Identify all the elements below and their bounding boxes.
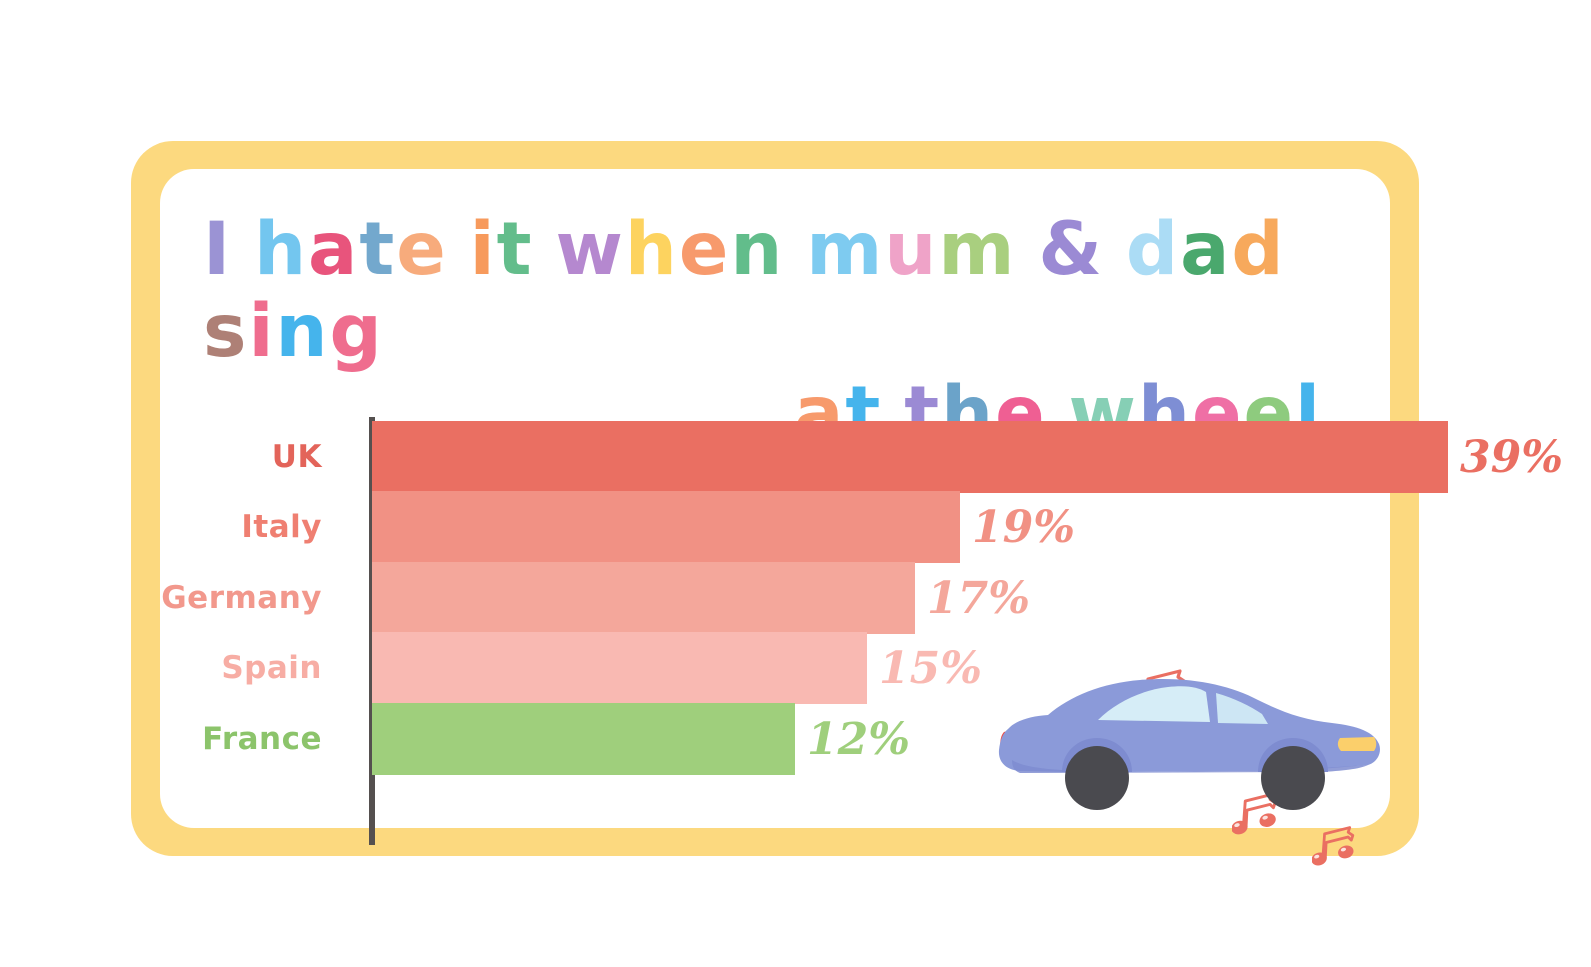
bar-category-label: Germany xyxy=(22,562,336,634)
car-illustration xyxy=(960,499,1380,829)
bar xyxy=(372,491,960,563)
white-panel: Ihateitwhenmum&dadsing atthewheel UK39%I… xyxy=(160,169,1390,828)
music-note-icon xyxy=(1312,824,1367,872)
bar-category-label: Italy xyxy=(22,491,336,563)
bar-row: UK39% xyxy=(160,421,1390,493)
bar xyxy=(372,562,915,634)
car-icon xyxy=(990,674,1385,814)
headlight xyxy=(1338,737,1376,751)
bar xyxy=(372,632,867,704)
bar-value-label: 39% xyxy=(1460,421,1563,493)
bar xyxy=(372,703,795,775)
rear-wheel xyxy=(1065,746,1129,810)
front-wheel xyxy=(1261,746,1325,810)
infographic-canvas: Ihateitwhenmum&dadsing atthewheel UK39%I… xyxy=(0,0,1591,967)
bar xyxy=(372,421,1448,493)
bar-category-label: Spain xyxy=(22,632,336,704)
bar-value-label: 12% xyxy=(807,703,910,775)
yellow-frame: Ihateitwhenmum&dadsing atthewheel UK39%I… xyxy=(131,141,1419,856)
bar-category-label: UK xyxy=(22,421,336,493)
bar-category-label: France xyxy=(22,703,336,775)
